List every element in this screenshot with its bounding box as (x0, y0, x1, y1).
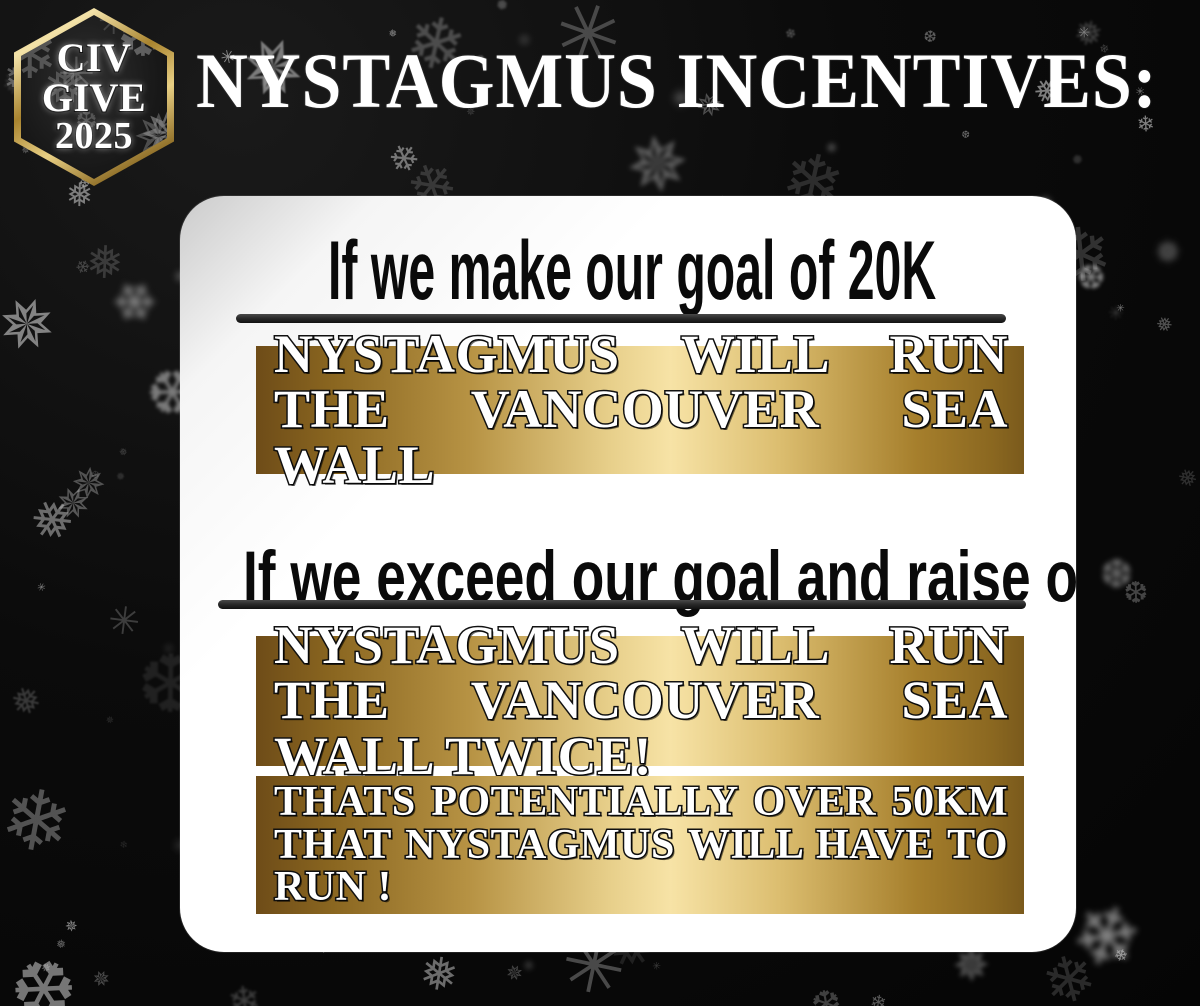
snowflake-icon: ✵ (1146, 232, 1187, 274)
incentive-banner-text-note: THATS POTENTIALLY OVER 50KM THAT NYSTAGM… (256, 781, 1024, 909)
content-card: If we make our goal of 20K NYSTAGMUS WIL… (180, 196, 1076, 952)
snowflake-icon: ❄ (869, 993, 888, 1006)
headline-divider-stretch (218, 600, 1026, 609)
incentive-banner-primary: NYSTAGMUS WILL RUN THE VANCOUVER SEA WAL… (256, 346, 1024, 474)
badge-line-year: 2025 (55, 117, 133, 156)
snowflake-icon: ❄ (217, 977, 269, 1006)
snowflake-icon: ✵ (103, 715, 114, 725)
snowflake-icon: ❅ (55, 939, 66, 952)
snowflake-icon: ✵ (61, 917, 81, 937)
badge-line-give: GIVE (42, 78, 146, 117)
snowflake-icon: ❆ (802, 981, 849, 1006)
snowflake-icon: ❅ (1151, 313, 1176, 339)
snowflake-icon: ❅ (1172, 463, 1200, 493)
snowflake-icon: ❅ (410, 948, 466, 1000)
snowflake-icon: ❅ (116, 446, 129, 459)
page-title: NYSTAGMUS INCENTIVES: (196, 42, 1089, 120)
snowflake-icon: ✵ (88, 966, 112, 992)
incentive-banner-note: THATS POTENTIALLY OVER 50KM THAT NYSTAGM… (256, 776, 1024, 914)
badge-line-civ: CIV (57, 38, 132, 77)
snowflake-icon: ✵ (501, 961, 526, 987)
content-card-inner: If we make our goal of 20K NYSTAGMUS WIL… (180, 196, 1076, 952)
snowflake-icon: ✳ (106, 601, 142, 643)
poster-canvas: ❄❄❄❆✵✳❆✳❄❆❆❆✵❅❆❄❅✵❄❆✵❆✵✵❄❄✵✵✵❆❆❅❄✵✳❅✵❄❆✵… (0, 0, 1200, 1006)
incentive-banner-text-stretch: NYSTAGMUS WILL RUN THE VANCOUVER SEA WAL… (256, 618, 1024, 783)
snowflake-icon: ✳ (34, 581, 47, 592)
snowflake-icon: ❄ (116, 839, 128, 851)
snowflake-icon: ❄ (0, 774, 78, 869)
badge-text: CIV GIVE 2025 (14, 8, 174, 186)
hexagon-badge-icon: ❆✳❄❆❆✵✳❅✵✵ CIV GIVE 2025 (14, 8, 174, 186)
incentive-banner-stretch: NYSTAGMUS WILL RUN THE VANCOUVER SEA WAL… (256, 636, 1024, 766)
snowflake-icon: ✵ (0, 284, 69, 367)
snowflake-icon: ❆ (0, 954, 81, 1006)
snowflake-icon: ✵ (116, 471, 126, 483)
incentive-banner-text-primary: NYSTAGMUS WILL RUN THE VANCOUVER SEA WAL… (256, 327, 1024, 492)
poster-header: ❆✳❄❆❆✵✳❅✵✵ CIV GIVE 2025 NYSTAGMUS INCEN… (0, 0, 1200, 195)
goal-headline-primary: If we make our goal of 20K (328, 223, 928, 318)
snowflake-icon: ❅ (2, 679, 48, 725)
headline-divider-primary (236, 314, 1006, 323)
